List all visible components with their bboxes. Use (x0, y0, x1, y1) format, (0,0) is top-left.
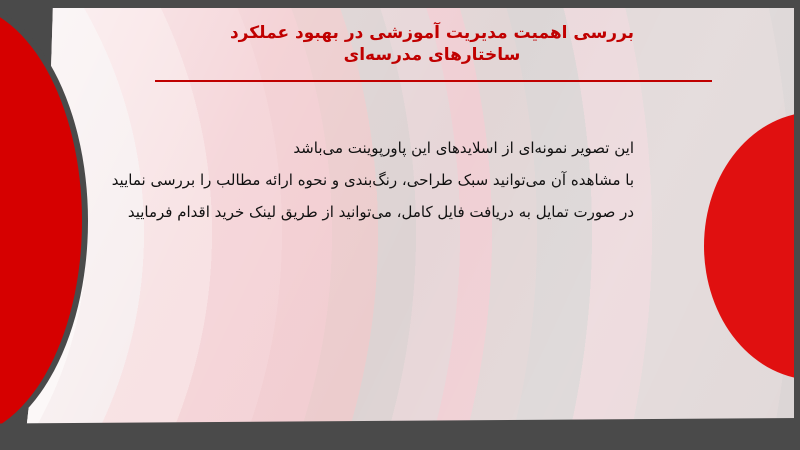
title-divider-rule (155, 80, 712, 82)
slide: بررسی اهمیت مدیریت آموزشی در بهبود عملکر… (0, 0, 800, 450)
slide-body-line-3: در صورت تمایل به دریافت فایل کامل، می‌تو… (164, 196, 634, 228)
slide-title-line-2: ساختارهای مدرسه‌ای (142, 44, 722, 66)
slide-title: بررسی اهمیت مدیریت آموزشی در بهبود عملکر… (142, 22, 722, 66)
slide-body-line-1: این تصویر نمونه‌ای از اسلایدهای این پاور… (164, 132, 634, 164)
slide-body-text: این تصویر نمونه‌ای از اسلایدهای این پاور… (164, 132, 634, 228)
slide-content-panel: بررسی اهمیت مدیریت آموزشی در بهبود عملکر… (22, 8, 794, 426)
slide-body-line-2: با مشاهده آن می‌توانید سبک طراحی، رنگ‌بن… (164, 164, 634, 196)
slide-title-line-1: بررسی اهمیت مدیریت آموزشی در بهبود عملکر… (142, 22, 722, 44)
